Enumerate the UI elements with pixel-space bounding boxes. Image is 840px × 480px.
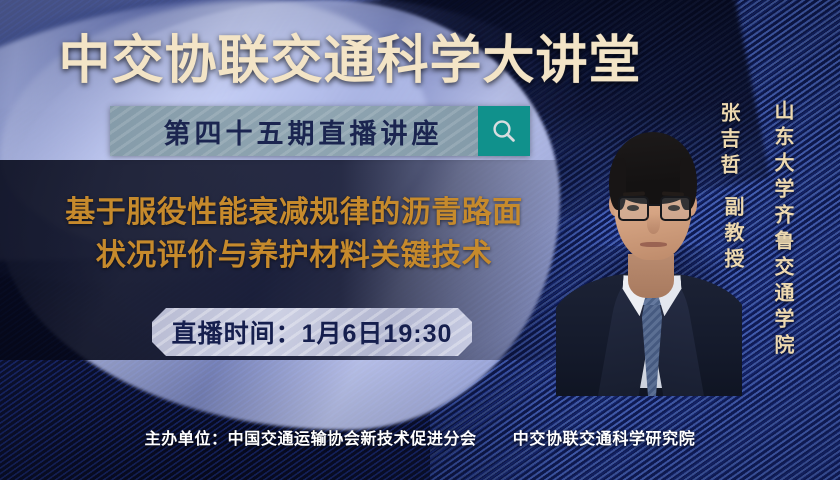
speaker-organization: 山东大学齐鲁交通学院 [768, 100, 797, 360]
lecture-topic-line1: 基于服役性能衰减规律的沥青路面 [65, 196, 523, 229]
portrait-glasses-bridge [649, 204, 660, 206]
episode-subtitle-label: 第四十五期直播讲座 [110, 112, 478, 151]
portrait-glasses-left-lens [618, 196, 649, 221]
portrait-neck [628, 254, 674, 298]
page-title: 中交协联交通科学大讲堂 [0, 18, 700, 93]
search-button[interactable] [478, 106, 530, 156]
speaker-role: 副教授 [718, 196, 747, 274]
lecture-topic: 基于服役性能衰减规律的沥青路面 状况评价与养护材料关键技术 [18, 192, 570, 277]
portrait-glasses-right-lens [660, 196, 691, 221]
footer-organizers: 主办单位：中国交通运输协会新技术促进分会 中交协联交通科学研究院 [0, 425, 840, 449]
broadcast-time-badge: 直播时间：1月6日19:30 [152, 308, 472, 356]
portrait-nose [647, 214, 660, 234]
live-lecture-banner: 中交协联交通科学大讲堂 第四十五期直播讲座 基于服役性能衰减规律的沥青路面 状况… [0, 0, 840, 480]
organizer-primary: 主办单位：中国交通运输协会新技术促进分会 [145, 431, 477, 448]
episode-subtitle-bar: 第四十五期直播讲座 [110, 106, 530, 156]
speaker-portrait [556, 96, 742, 396]
broadcast-time-label: 直播时间：1月6日19:30 [172, 314, 453, 350]
organizer-secondary: 中交协联交通科学研究院 [513, 431, 696, 448]
portrait-mouth [640, 242, 667, 247]
speaker-name: 张吉哲 [718, 102, 738, 180]
lecture-topic-line2: 状况评价与养护材料关键技术 [18, 235, 570, 278]
search-icon [490, 117, 518, 145]
